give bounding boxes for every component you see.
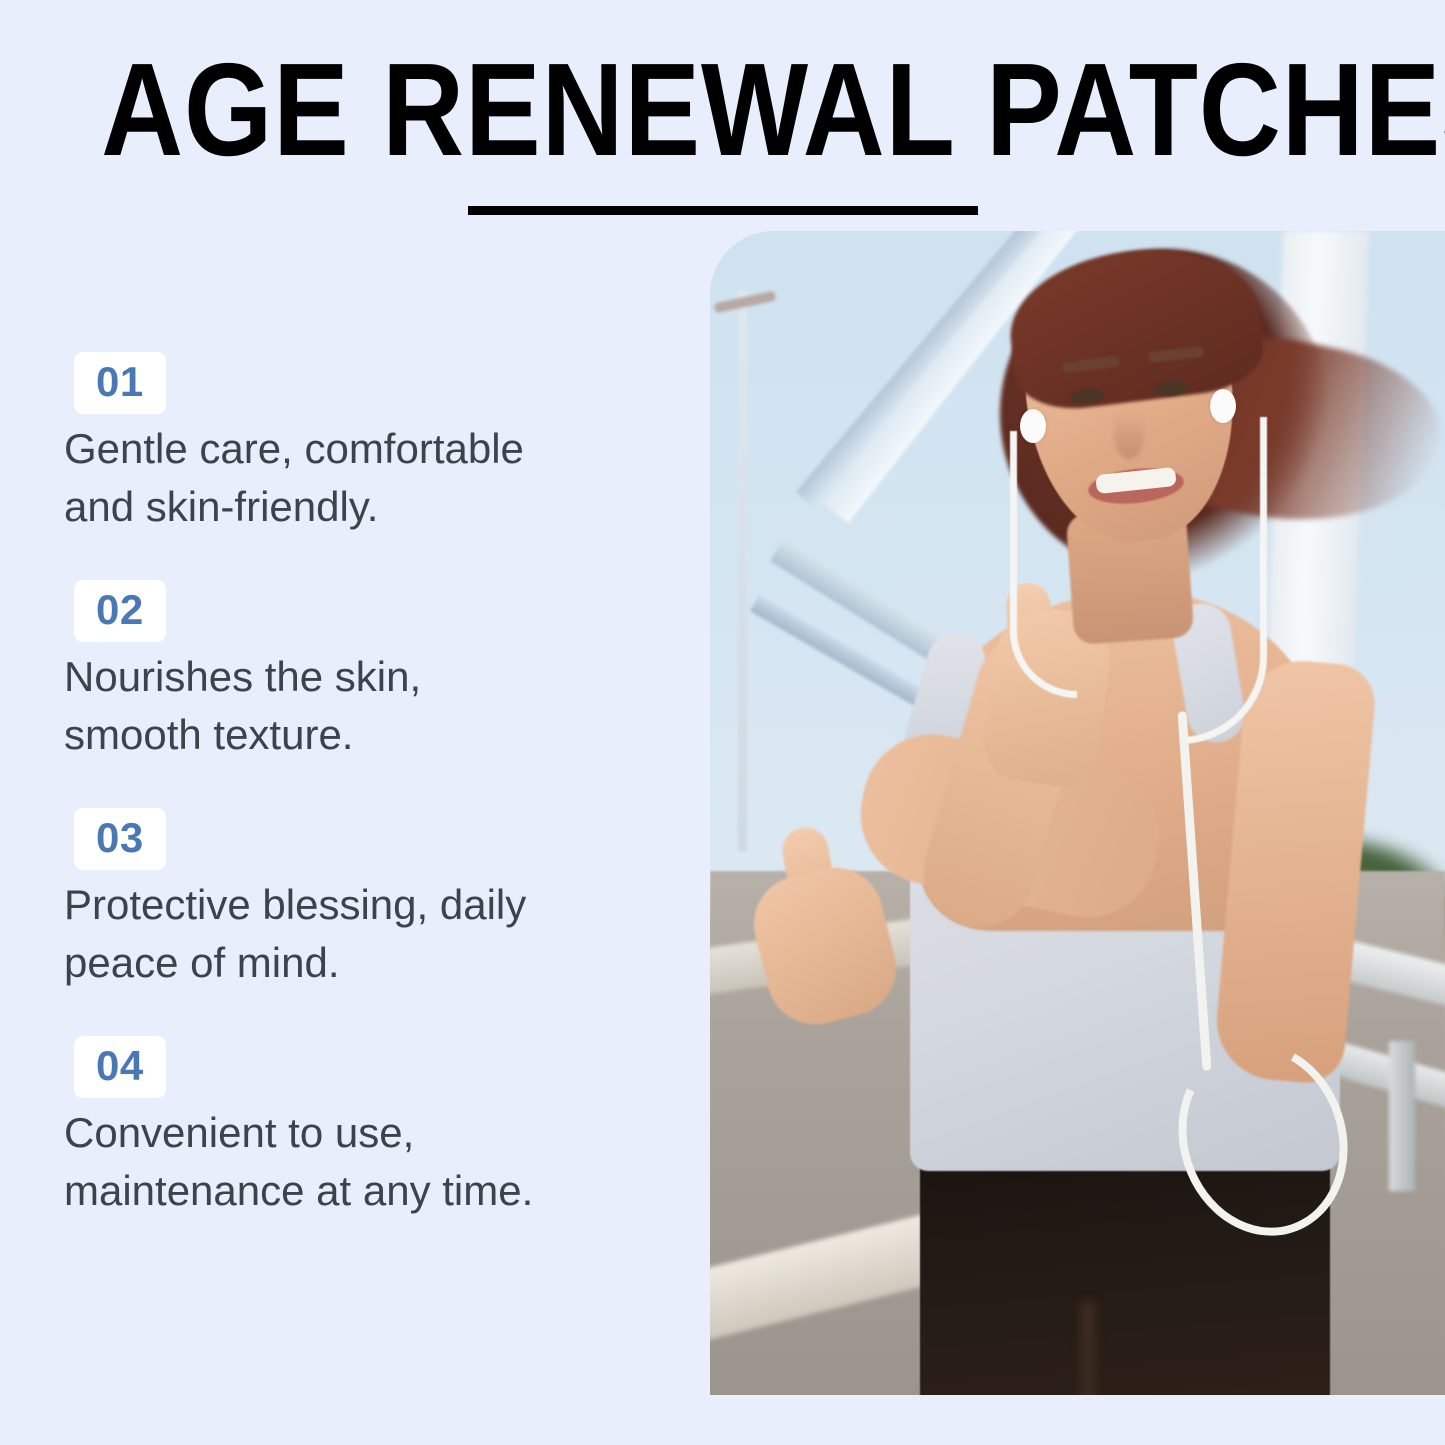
page-title: AGE RENEWAL PATCHES [101, 44, 1344, 176]
nose [1114, 413, 1144, 459]
photo-scene: Smiling woman jogging outdoors on a brid… [710, 231, 1445, 1395]
feature-number-badge-01: 01 [74, 352, 166, 414]
hero-photo: Smiling woman jogging outdoors on a brid… [710, 231, 1445, 1395]
feature-number-badge-03: 03 [74, 808, 166, 870]
feature-list: 01 Gentle care, comfortable and skin-fri… [64, 352, 624, 1220]
feature-item-03: 03 Protective blessing, daily peace of m… [64, 808, 624, 992]
leg-shadow [1080, 1301, 1096, 1395]
runner-figure [710, 231, 1445, 1395]
title-underline-rule [468, 206, 978, 215]
promo-poster: AGE RENEWAL PATCHES 01 Gentle care, comf… [0, 0, 1445, 1445]
feature-item-04: 04 Convenient to use, maintenance at any… [64, 1036, 624, 1220]
feature-text-04: Convenient to use, maintenance at any ti… [64, 1104, 534, 1220]
feature-text-02: Nourishes the skin, smooth texture. [64, 648, 534, 764]
feature-number-badge-02: 02 [74, 580, 166, 642]
feature-item-01: 01 Gentle care, comfortable and skin-fri… [64, 352, 624, 536]
feature-number-badge-04: 04 [74, 1036, 166, 1098]
feature-item-02: 02 Nourishes the skin, smooth texture. [64, 580, 624, 764]
earphone-cord [1010, 431, 1077, 698]
earphone-cord [1180, 417, 1267, 744]
feature-text-01: Gentle care, comfortable and skin-friend… [64, 420, 534, 536]
page-title-block: AGE RENEWAL PATCHES [0, 44, 1445, 215]
feature-text-03: Protective blessing, daily peace of mind… [64, 876, 534, 992]
lower-hand [744, 858, 906, 1035]
